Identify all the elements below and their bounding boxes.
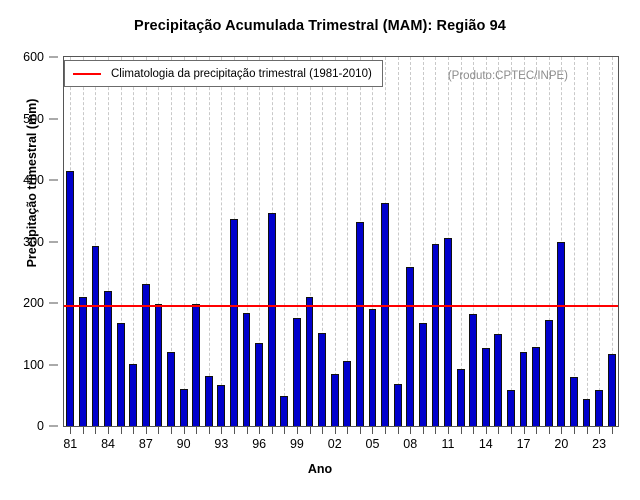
y-tick-label: 0 [37,419,44,433]
y-tick-mark [49,426,58,427]
x-tick-mark [133,427,134,434]
x-tick-mark [196,427,197,434]
x-tick-mark [612,427,613,434]
x-tick-label: 99 [290,437,304,451]
x-tick-mark [272,427,273,434]
x-tick-mark [95,427,96,434]
x-tick-mark [423,427,424,434]
x-tick-mark [184,427,185,434]
x-tick-mark [360,427,361,434]
x-tick-label: 02 [328,437,342,451]
climatology-legend-swatch [73,73,101,75]
x-tick-mark [171,427,172,434]
y-tick-mark [49,241,58,242]
x-tick-mark [448,427,449,434]
x-tick-mark [310,427,311,434]
x-tick-mark [561,427,562,434]
x-tick-mark [322,427,323,434]
x-tick-label: 96 [252,437,266,451]
x-tick-mark [221,427,222,434]
x-tick-mark [70,427,71,434]
x-tick-mark [410,427,411,434]
x-tick-mark [461,427,462,434]
x-tick-mark [435,427,436,434]
x-tick-label: 11 [442,437,455,451]
x-tick-mark [259,427,260,434]
x-tick-mark [385,427,386,434]
x-tick-mark [284,427,285,434]
x-tick-label: 05 [366,437,380,451]
x-tick-mark [599,427,600,434]
x-tick-label: 20 [554,437,568,451]
y-tick-mark [49,364,58,365]
climatology-line [64,305,618,307]
x-tick-mark [574,427,575,434]
x-tick-label: 81 [63,437,77,451]
y-axis-title: Precipitação trimestral (mm) [25,33,39,333]
x-tick-mark [398,427,399,434]
x-tick-mark [146,427,147,434]
x-tick-mark [524,427,525,434]
x-tick-mark [511,427,512,434]
legend-label: Climatologia da precipitação trimestral … [111,68,372,80]
y-tick-mark [49,180,58,181]
climatology-layer [64,57,618,426]
x-tick-mark [536,427,537,434]
x-tick-label: 87 [139,437,153,451]
y-tick-mark [49,303,58,304]
x-tick-label: 17 [517,437,531,451]
x-tick-label: 93 [214,437,228,451]
y-tick-mark [49,57,58,58]
x-tick-mark [108,427,109,434]
source-note: (Produto:CPTEC/INPE) [448,70,568,82]
chart-page: Precipitação Acumulada Trimestral (MAM):… [0,0,640,500]
x-tick-label: 08 [403,437,417,451]
x-tick-mark [121,427,122,434]
x-tick-label: 14 [479,437,493,451]
x-tick-mark [83,427,84,434]
x-tick-mark [498,427,499,434]
x-tick-label: 90 [177,437,191,451]
y-tick-label: 100 [23,358,44,372]
x-tick-mark [297,427,298,434]
x-tick-label: 84 [101,437,115,451]
x-tick-mark [209,427,210,434]
x-tick-mark [234,427,235,434]
x-tick-mark [473,427,474,434]
page-title: Precipitação Acumulada Trimestral (MAM):… [0,18,640,34]
plot-area [63,56,619,427]
x-tick-mark [247,427,248,434]
x-tick-label: 23 [592,437,606,451]
x-tick-mark [587,427,588,434]
x-tick-mark [158,427,159,434]
x-axis-title: Ano [0,462,640,476]
y-tick-mark [49,118,58,119]
x-tick-mark [347,427,348,434]
x-tick-mark [372,427,373,434]
x-tick-mark [549,427,550,434]
x-tick-mark [335,427,336,434]
legend: Climatologia da precipitação trimestral … [64,60,383,87]
x-tick-mark [486,427,487,434]
